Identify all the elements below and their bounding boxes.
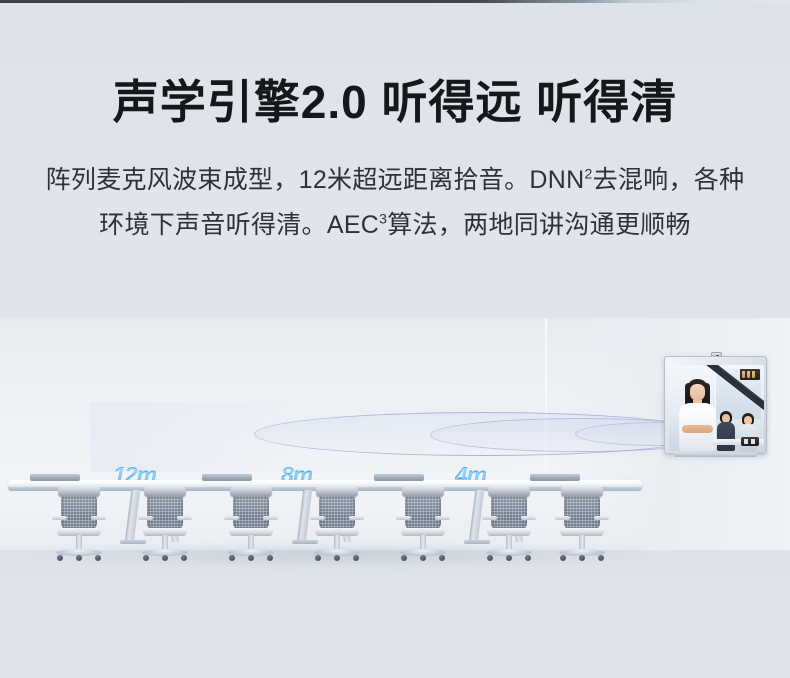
chair-armrest: [555, 516, 570, 520]
chair-armrest: [52, 516, 67, 520]
table-tray: [202, 474, 252, 481]
chair-armrest: [482, 516, 497, 520]
chair-armrest: [349, 516, 364, 520]
chair-armrest: [263, 516, 278, 520]
chair-caster: [248, 555, 254, 561]
wall-mounted-display: [664, 352, 767, 462]
display-stand: [674, 453, 757, 457]
chair-caster: [76, 555, 82, 561]
chair-caster: [95, 555, 101, 561]
participant-face: [690, 384, 705, 401]
chair-caster: [353, 555, 359, 561]
participant-body: [717, 422, 735, 451]
office-chair: [396, 486, 450, 564]
chair-caster: [598, 555, 604, 561]
chair-caster: [420, 555, 426, 561]
office-chair: [555, 486, 609, 564]
chair-caster: [267, 555, 273, 561]
remote-participant-secondary: [717, 411, 735, 451]
chair-caster: [506, 555, 512, 561]
footnote-marker-2: 2: [584, 166, 592, 182]
thumbnail-strip-icon: [740, 369, 760, 380]
chair-caster: [181, 555, 187, 561]
table-tray: [30, 474, 80, 481]
chair-armrest: [521, 516, 536, 520]
table-tray: [530, 474, 580, 481]
description-segment-1: 阵列麦克风波束成型，12米超远距离拾音。DNN: [46, 166, 585, 194]
chair-caster: [525, 555, 531, 561]
chair-mesh-back: [319, 496, 355, 530]
chair-caster: [162, 555, 168, 561]
chair-caster: [315, 555, 321, 561]
description-segment-3: 算法，两地同讲沟通更顺畅: [387, 211, 691, 239]
top-edge-sliver: [0, 0, 790, 3]
chair-caster: [143, 555, 149, 561]
display-bezel: [664, 356, 767, 454]
chair-armrest: [224, 516, 239, 520]
chair-caster: [57, 555, 63, 561]
chair-caster: [579, 555, 585, 561]
room-floor: [0, 550, 790, 678]
office-chair: [482, 486, 536, 564]
chair-caster: [229, 555, 235, 561]
chair-armrest: [310, 516, 325, 520]
remote-participant-primary: [679, 379, 715, 451]
office-chair: [138, 486, 192, 564]
chair-caster: [401, 555, 407, 561]
chair-mesh-back: [147, 496, 183, 530]
chair-armrest: [138, 516, 153, 520]
chair-armrest: [177, 516, 192, 520]
chair-armrest: [594, 516, 609, 520]
screen-control-badge: [741, 437, 759, 446]
chair-mesh-back: [564, 496, 600, 530]
display-screen: [669, 365, 764, 451]
chair-armrest: [435, 516, 450, 520]
chair-caster: [334, 555, 340, 561]
page-title: 声学引擎2.0 听得远 听得清: [0, 74, 790, 130]
chair-caster: [439, 555, 445, 561]
promo-page: 声学引擎2.0 听得远 听得清 阵列麦克风波束成型，12米超远距离拾音。DNN2…: [0, 0, 790, 678]
table-tray: [374, 474, 424, 481]
chair-mesh-back: [491, 496, 527, 530]
chair-mesh-back: [233, 496, 269, 530]
chair-armrest: [396, 516, 411, 520]
office-chair: [310, 486, 364, 564]
chair-caster: [487, 555, 493, 561]
chair-caster: [560, 555, 566, 561]
office-chair: [52, 486, 106, 564]
office-chair: [224, 486, 278, 564]
participant-arms: [682, 425, 713, 433]
chair-mesh-back: [61, 496, 97, 530]
chair-mesh-back: [405, 496, 441, 530]
page-description: 阵列麦克风波束成型，12米超远距离拾音。DNN2去混响，各种环境下声音听得清。A…: [38, 158, 752, 248]
chair-armrest: [91, 516, 106, 520]
